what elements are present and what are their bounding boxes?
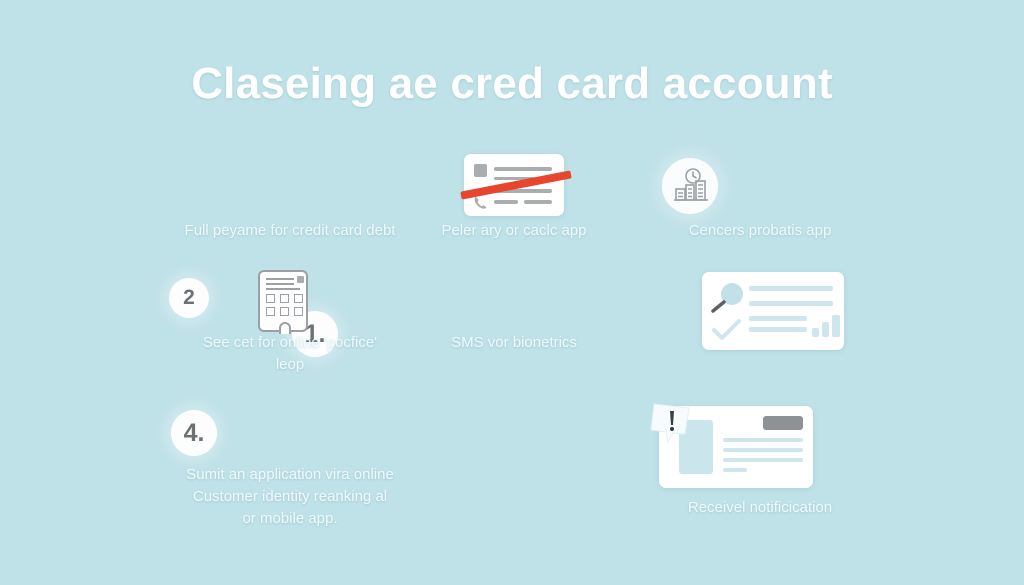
step-4-caption-line-2: Customer identity reanking al xyxy=(120,486,460,508)
mini-chart-bar-1 xyxy=(812,328,819,337)
card-line-1 xyxy=(749,286,833,291)
middle-item-2-caption: SMS vor bionetrics xyxy=(422,332,606,354)
card-line-4 xyxy=(494,200,518,204)
step-number-badge-4: 4. xyxy=(171,410,217,456)
card-line-4 xyxy=(749,327,807,332)
right-item-1-caption: Cencers probatis app xyxy=(645,220,875,242)
phone-handset-icon xyxy=(473,195,488,211)
step-2-caption-line-1: See cet for online 'pocfice' xyxy=(120,332,460,354)
alert-bubble-icon xyxy=(649,400,697,448)
bldg-corner-square xyxy=(297,276,304,283)
card-line-3 xyxy=(723,458,803,462)
bldg-window xyxy=(294,307,303,316)
step-1-caption: Full peyame for credit card debt xyxy=(120,220,460,242)
step-4-caption-line-1: Sumit an application vira online xyxy=(120,464,460,486)
mini-chart-bar-2 xyxy=(822,322,829,337)
right-item-2 xyxy=(645,270,875,390)
card-line-5 xyxy=(524,200,552,204)
middle-item-1: Peler ary or caclc app xyxy=(422,150,606,250)
checkmark-icon xyxy=(712,318,742,342)
card-line-1 xyxy=(723,438,803,442)
right-item-1: Cencers probatis app xyxy=(645,150,875,250)
middle-item-2: SMS vor bionetrics xyxy=(422,270,606,390)
step-2-caption-line-2: leop xyxy=(120,354,460,376)
card-line-1 xyxy=(494,167,552,171)
step-number-badge-2: 2 xyxy=(169,278,209,318)
card-line-4 xyxy=(723,468,747,472)
bldg-line-1 xyxy=(266,278,294,280)
building-calculator-icon xyxy=(258,270,308,332)
right-item-3-caption: Receivel notificication xyxy=(645,497,875,519)
bldg-window xyxy=(266,294,275,303)
step-4-item: 4. Sumit an application vira online Cust… xyxy=(120,402,460,542)
step-number-4-label: 4. xyxy=(171,410,217,456)
page-title: Claseing ae cred card account xyxy=(0,54,1024,114)
infographic-canvas: Claseing ae cred card account 1. Full pe… xyxy=(0,0,1024,585)
card-with-red-strike-icon xyxy=(464,154,564,216)
card-line-2 xyxy=(723,448,803,452)
step-number-2-label: 2 xyxy=(169,278,209,318)
bldg-line-2 xyxy=(266,283,294,285)
header-bar xyxy=(763,416,803,430)
bldg-window xyxy=(280,307,289,316)
step-1-item: 1. Full peyame for credit card debt xyxy=(120,150,460,250)
magnifier-icon xyxy=(710,282,750,316)
card-line-3 xyxy=(749,316,807,321)
bldg-line-3 xyxy=(266,288,300,290)
bar-chart-clock-glyph xyxy=(662,158,718,214)
bar-chart-clock-circle-icon xyxy=(662,158,718,214)
step-2-item: 2 See cet for online 'pocfice' leop xyxy=(120,270,460,390)
middle-item-1-caption: Peler ary or caclc app xyxy=(422,220,606,242)
avatar-square xyxy=(474,164,487,177)
step-4-caption-line-3: or mobile app. xyxy=(120,508,460,530)
right-item-3: Receivel notificication xyxy=(645,402,875,542)
card-with-alert-bubble-icon xyxy=(659,406,813,488)
card-with-magnifier-check-chart-icon xyxy=(702,272,844,350)
card-line-2 xyxy=(749,301,833,306)
bldg-window xyxy=(266,307,275,316)
mini-chart-bar-3 xyxy=(832,315,840,337)
bldg-window xyxy=(294,294,303,303)
bldg-window xyxy=(280,294,289,303)
